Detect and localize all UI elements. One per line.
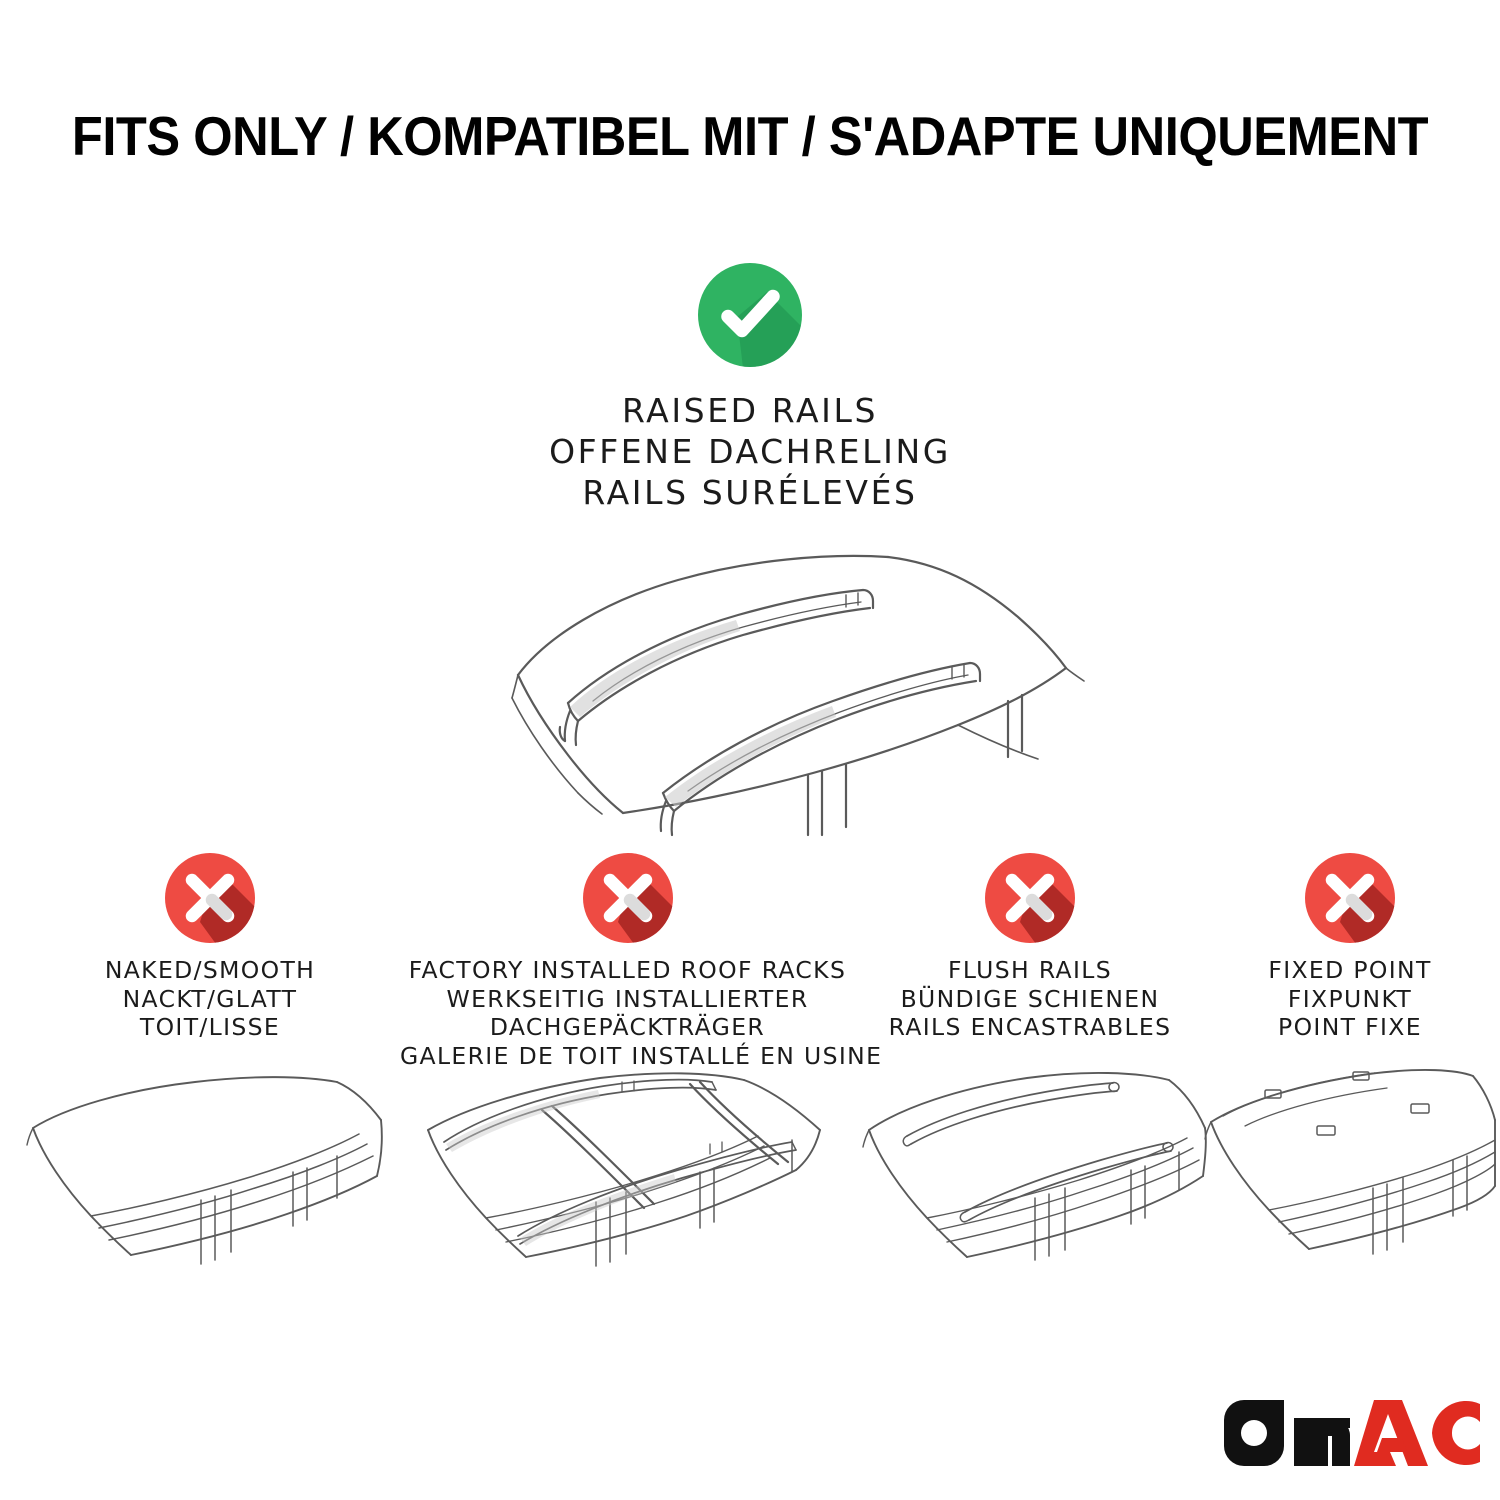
label-en: FLUSH RAILS [855, 956, 1205, 985]
incompatible-labels-fixed-point: FIXED POINT FIXPUNKT POINT FIXE [1205, 956, 1495, 1042]
page-title: FITS ONLY / KOMPATIBEL MIT / S'ADAPTE UN… [60, 104, 1440, 168]
logo-letter-c [1432, 1401, 1480, 1465]
label-de-2: DACHGEPÄCKTRÄGER [400, 1013, 855, 1042]
label-fr: GALERIE DE TOIT INSTALLÉ EN USINE [400, 1042, 855, 1071]
car-roof-factory-racks-illustration [400, 1068, 855, 1283]
label-de-1: WERKSEITIG INSTALLIERTER [400, 985, 855, 1014]
logo-letter-m [1294, 1418, 1350, 1466]
incompatible-labels-flush-rails: FLUSH RAILS BÜNDIGE SCHIENEN RAILS ENCAS… [855, 956, 1205, 1042]
label-fr: POINT FIXE [1205, 1013, 1495, 1042]
cross-circle-icon [1304, 852, 1396, 944]
cross-circle-icon [164, 852, 256, 944]
label-de: NACKT/GLATT [25, 985, 395, 1014]
compatible-section: RAISED RAILS OFFENE DACHRELING RAILS SUR… [0, 262, 1500, 513]
label-fr: TOIT/LISSE [25, 1013, 395, 1042]
incompatible-item-flush-rails: FLUSH RAILS BÜNDIGE SCHIENEN RAILS ENCAS… [855, 852, 1205, 1275]
incompatible-labels-naked-smooth: NAKED/SMOOTH NACKT/GLATT TOIT/LISSE [25, 956, 395, 1042]
cross-circle-icon [984, 852, 1076, 944]
car-roof-flush-rails-illustration [855, 1060, 1205, 1275]
label-de: FIXPUNKT [1205, 985, 1495, 1014]
label-fr: RAILS ENCASTRABLES [855, 1013, 1205, 1042]
incompatible-item-fixed-point: FIXED POINT FIXPUNKT POINT FIXE [1205, 852, 1495, 1275]
omac-logo [1222, 1398, 1482, 1468]
label-en: NAKED/SMOOTH [25, 956, 395, 985]
car-roof-raised-rails-illustration [418, 505, 1098, 835]
compatible-labels: RAISED RAILS OFFENE DACHRELING RAILS SUR… [0, 390, 1500, 513]
logo-letter-o [1224, 1400, 1284, 1466]
label-en: FACTORY INSTALLED ROOF RACKS [400, 956, 855, 985]
incompatible-section: NAKED/SMOOTH NACKT/GLATT TOIT/LISSE [0, 852, 1500, 1282]
compatible-label-en: RAISED RAILS [0, 390, 1500, 431]
cross-circle-icon [582, 852, 674, 944]
car-roof-naked-smooth-illustration [25, 1060, 395, 1275]
incompatible-labels-factory-racks: FACTORY INSTALLED ROOF RACKS WERKSEITIG … [400, 956, 855, 1070]
check-circle-icon [697, 262, 803, 368]
logo-letter-a [1354, 1400, 1428, 1466]
incompatible-item-factory-racks: FACTORY INSTALLED ROOF RACKS WERKSEITIG … [400, 852, 855, 1283]
incompatible-item-naked-smooth: NAKED/SMOOTH NACKT/GLATT TOIT/LISSE [25, 852, 395, 1275]
car-roof-fixed-point-illustration [1205, 1060, 1495, 1275]
label-de: BÜNDIGE SCHIENEN [855, 985, 1205, 1014]
compatible-label-de: OFFENE DACHRELING [0, 431, 1500, 472]
label-en: FIXED POINT [1205, 956, 1495, 985]
